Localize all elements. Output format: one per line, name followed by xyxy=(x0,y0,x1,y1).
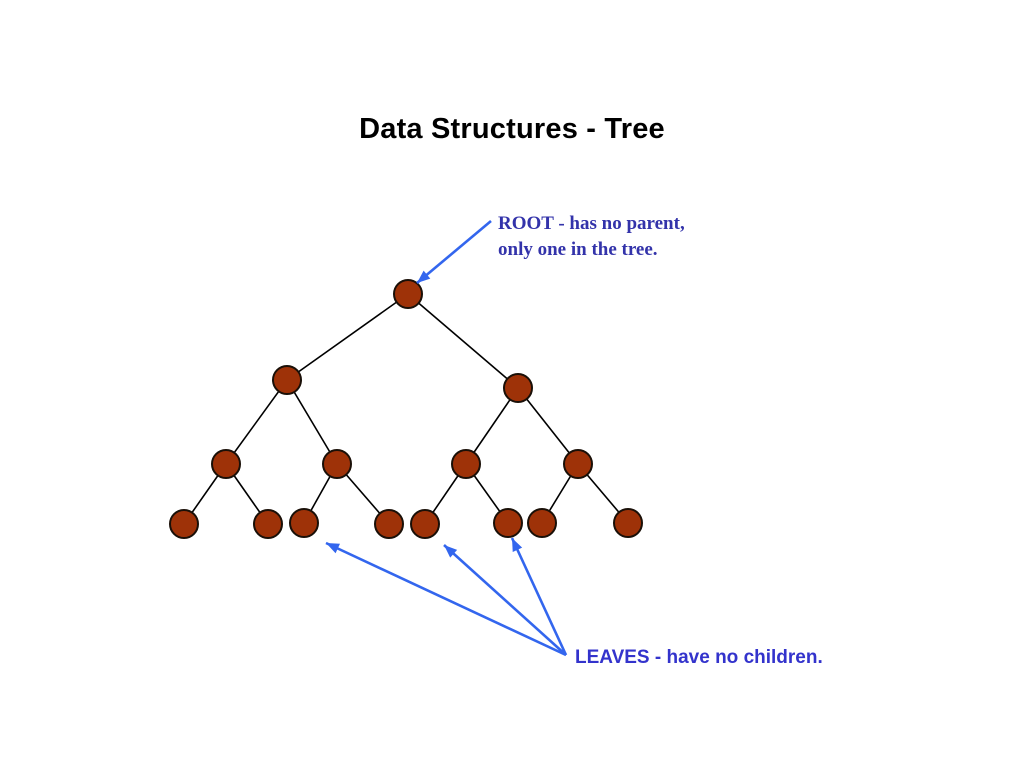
edge-layer xyxy=(184,294,628,524)
leaf-node[interactable] xyxy=(170,510,198,538)
annotation-arrow xyxy=(512,538,566,655)
annotation-arrow xyxy=(417,221,491,283)
root-annotation-line-2: only one in the tree. xyxy=(498,237,685,263)
annotation-arrow-layer xyxy=(326,221,566,655)
root-annotation-line-1: ROOT - has no parent, xyxy=(498,211,685,237)
tree-node[interactable] xyxy=(323,450,351,478)
leaf-node[interactable] xyxy=(528,509,556,537)
tree-node[interactable] xyxy=(452,450,480,478)
tree-node[interactable] xyxy=(273,366,301,394)
tree-edge xyxy=(226,380,287,464)
node-layer xyxy=(170,280,642,538)
tree-node[interactable] xyxy=(212,450,240,478)
annotation-arrow xyxy=(444,545,566,655)
tree-node[interactable] xyxy=(564,450,592,478)
leaf-node[interactable] xyxy=(375,510,403,538)
tree-edge xyxy=(408,294,518,388)
root-annotation-text: ROOT - has no parent, only one in the tr… xyxy=(498,211,685,263)
arrowhead-icon xyxy=(512,538,522,552)
leaf-node[interactable] xyxy=(411,510,439,538)
tree-edge xyxy=(287,294,408,380)
root-node[interactable] xyxy=(394,280,422,308)
slide-canvas: Data Structures - Tree ROOT - has no par… xyxy=(0,0,1024,768)
tree-diagram xyxy=(0,0,1024,768)
leaves-annotation-text: LEAVES - have no children. xyxy=(575,647,823,669)
tree-node[interactable] xyxy=(504,374,532,402)
leaf-node[interactable] xyxy=(254,510,282,538)
leaf-node[interactable] xyxy=(494,509,522,537)
arrowhead-icon xyxy=(326,543,340,553)
leaf-node[interactable] xyxy=(290,509,318,537)
leaf-node[interactable] xyxy=(614,509,642,537)
annotation-arrow xyxy=(326,543,566,655)
